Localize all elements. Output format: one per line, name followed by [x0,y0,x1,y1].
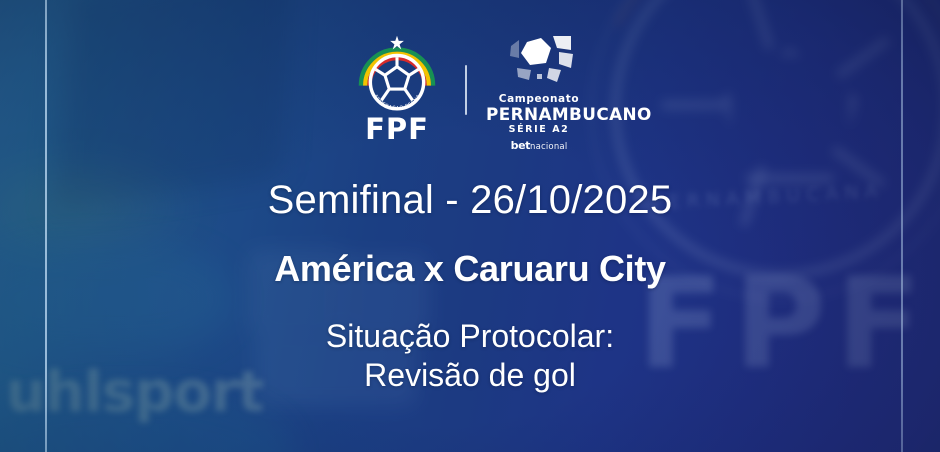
content-block: Semifinal - 26/10/2025 América x Caruaru… [0,178,940,395]
round-and-date: Semifinal - 26/10/2025 [0,178,940,223]
fpf-wordmark: FPF [349,112,445,146]
competition-line1: Campeonato [487,93,591,105]
competition-line3: SÉRIE A2 [487,124,591,135]
logo-row: FEDERACAO PERNAMBUCANA DE FUTEBOL FPF Ca… [0,34,940,146]
competition-line2: PERNAMBUCANO [486,105,592,124]
status-label: Situação Protocolar: [0,317,940,356]
logo-divider [465,65,467,115]
competition-mark-icon [497,34,581,92]
fpf-crest-icon: FEDERACAO PERNAMBUCANA DE FUTEBOL [354,34,440,120]
match-title: América x Caruaru City [0,249,940,289]
sponsor-bold: bet [511,139,530,152]
match-status-card: uhlsport PERNAMBUCANA FPF [0,0,940,452]
competition-logo: Campeonato PERNAMBUCANO SÉRIE A2 betnaci… [487,34,591,146]
status-value: Revisão de gol [0,356,940,395]
sponsor-light: nacional [530,142,567,152]
sponsor-logo: betnacional [487,139,591,152]
fpf-logo: FEDERACAO PERNAMBUCANA DE FUTEBOL FPF [349,34,445,146]
status-block: Situação Protocolar: Revisão de gol [0,317,940,395]
